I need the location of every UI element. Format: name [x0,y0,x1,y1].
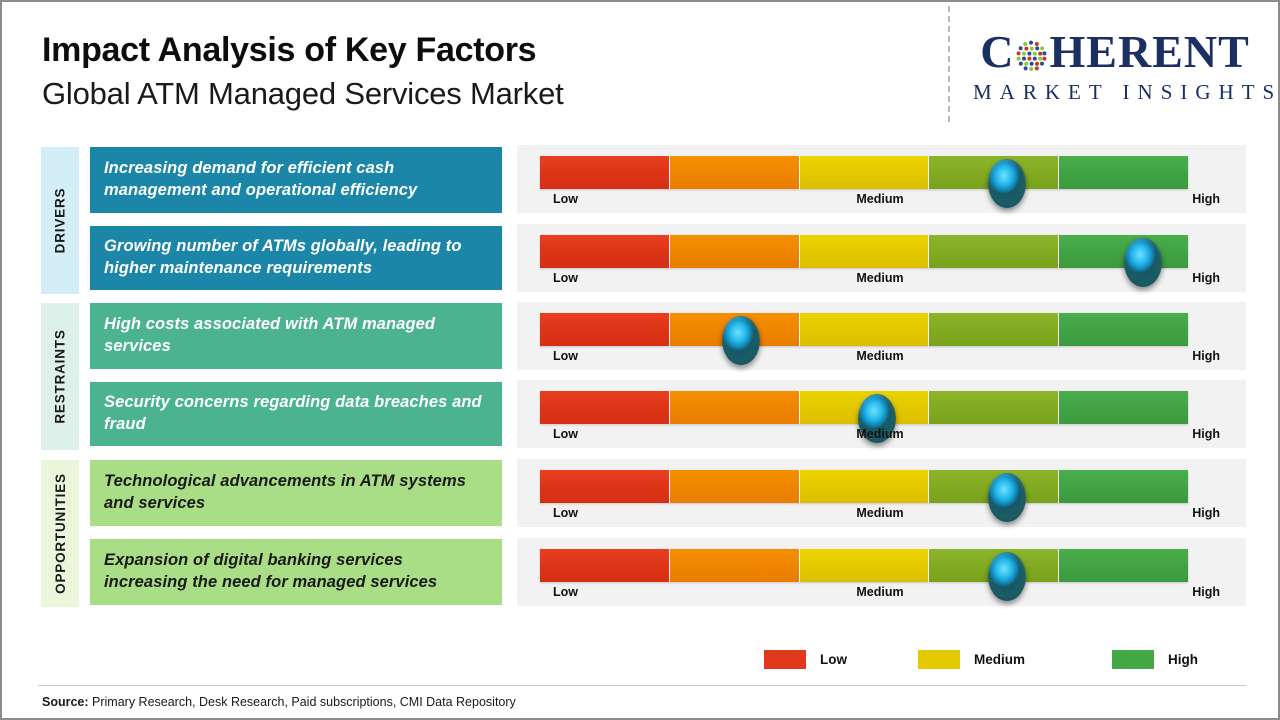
factor-box: Technological advancements in ATM system… [90,460,502,526]
source-note: Source: Primary Research, Desk Research,… [42,695,516,709]
scale-labels: Low Medium High [540,192,1220,210]
impact-bar [540,235,1188,268]
category-label-drivers: DRIVERS [53,188,68,254]
category-opportunities: OPPORTUNITIES [41,460,79,607]
impact-bar [540,549,1188,582]
footer-divider [38,685,1246,686]
legend-label-low: Low [820,652,847,667]
bar-segment-low [540,235,669,268]
title-block: Impact Analysis of Key Factors Global AT… [42,30,564,112]
source-text: Primary Research, Desk Research, Paid su… [89,695,516,709]
legend-item-medium: Medium [918,647,1025,671]
legend-item-high: High [1112,647,1198,671]
impact-bar [540,156,1188,189]
scale-label-high: High [1192,506,1220,520]
factor-box: Expansion of digital banking services in… [90,539,502,605]
bar-segment-low-medium [669,470,799,503]
factor-text: Expansion of digital banking services in… [104,550,488,594]
scale-labels: Low Medium High [540,349,1220,367]
factor-text: Security concerns regarding data breache… [104,392,488,436]
header: Impact Analysis of Key Factors Global AT… [2,2,1280,134]
logo-wordmark: C [965,28,1265,76]
category-label-restraints: RESTRAINTS [53,329,68,423]
legend-label-high: High [1168,652,1198,667]
slide-root: Impact Analysis of Key Factors Global AT… [0,0,1280,720]
scale-label-high: High [1192,349,1220,363]
bar-segment-low-medium [669,549,799,582]
scale-label-high: High [1192,192,1220,206]
bar-segment-medium-high [928,391,1058,424]
scale-label-medium: Medium [540,506,1220,520]
bar-segment-low-medium [669,235,799,268]
bar-segment-high [1058,156,1188,189]
scale-labels: Low Medium High [540,506,1220,524]
legend-item-low: Low [764,647,847,671]
legend: Low Medium High [764,647,1204,671]
legend-swatch-high [1112,650,1154,669]
meter-row: Low Medium High [517,459,1246,527]
scale-label-medium: Medium [540,349,1220,363]
meter-row: Low Medium High [517,224,1246,292]
bar-segment-low-medium [669,391,799,424]
bar-segment-medium-high [928,313,1058,346]
page-subtitle: Global ATM Managed Services Market [42,75,564,112]
bar-segment-high [1058,470,1188,503]
scale-label-medium: Medium [540,585,1220,599]
category-restraints: RESTRAINTS [41,303,79,450]
legend-swatch-medium [918,650,960,669]
meter-row: Low Medium High [517,302,1246,370]
impact-bar [540,470,1188,503]
scale-labels: Low Medium High [540,585,1220,603]
bar-segment-high [1058,549,1188,582]
bar-segment-medium [799,156,929,189]
factor-text: Technological advancements in ATM system… [104,471,488,515]
factor-text: High costs associated with ATM managed s… [104,314,488,358]
meter-row: Low Medium High [517,538,1246,606]
logo-letter-c: C [980,29,1014,75]
bar-segment-medium [799,235,929,268]
logo-tagline: MARKET INSIGHTS [965,80,1265,105]
scale-label-high: High [1192,427,1220,441]
scale-label-medium: Medium [540,271,1220,285]
scale-label-high: High [1192,585,1220,599]
factor-box: Growing number of ATMs globally, leading… [90,226,502,290]
scale-label-high: High [1192,271,1220,285]
bar-segment-medium-high [928,235,1058,268]
scale-labels: Low Medium High [540,271,1220,289]
bar-segment-high [1058,391,1188,424]
bar-segment-low [540,549,669,582]
bar-segment-low [540,391,669,424]
factor-box: Security concerns regarding data breache… [90,382,502,446]
factor-box: High costs associated with ATM managed s… [90,303,502,369]
meter-row: Low Medium High [517,380,1246,448]
page-title: Impact Analysis of Key Factors [42,30,564,70]
bar-segment-low [540,156,669,189]
bar-segment-high [1058,313,1188,346]
bar-segment-medium [799,470,929,503]
legend-label-medium: Medium [974,652,1025,667]
header-divider [948,6,950,122]
impact-bar [540,391,1188,424]
bar-segment-low [540,313,669,346]
source-label: Source: [42,695,89,709]
logo-word-herent: HERENT [1049,29,1249,75]
factor-text: Growing number of ATMs globally, leading… [104,236,488,280]
category-label-opportunities: OPPORTUNITIES [53,473,68,594]
bar-segment-low-medium [669,156,799,189]
globe-icon [1014,35,1048,69]
bar-segment-low [540,470,669,503]
scale-label-medium: Medium [540,192,1220,206]
meter-row: Low Medium High [517,145,1246,213]
impact-bar [540,313,1188,346]
bar-segment-medium [799,313,929,346]
bar-segment-medium [799,549,929,582]
factor-box: Increasing demand for efficient cash man… [90,147,502,213]
company-logo: C [965,28,1265,105]
factor-text: Increasing demand for efficient cash man… [104,158,488,202]
scale-label-medium: Medium [540,427,1220,441]
scale-labels: Low Medium High [540,427,1220,445]
category-drivers: DRIVERS [41,147,79,294]
legend-swatch-low [764,650,806,669]
